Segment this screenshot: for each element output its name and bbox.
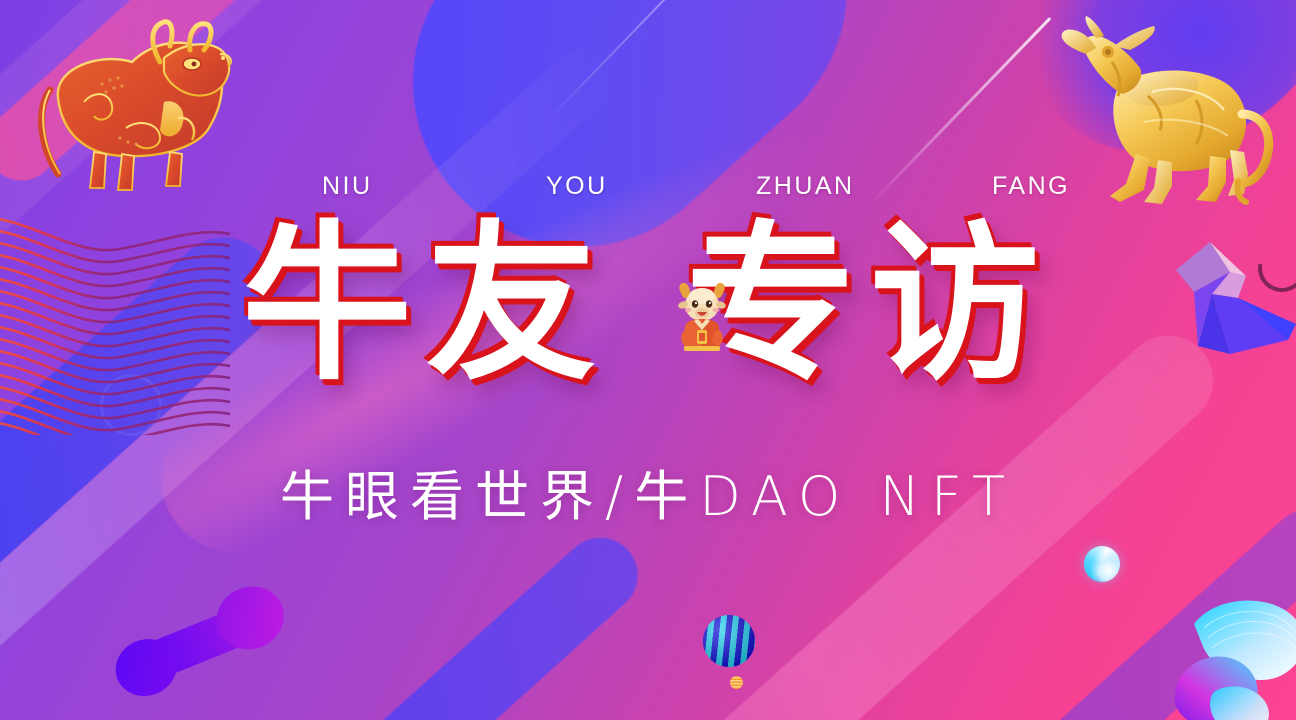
pinyin-zhuan: ZHUAN — [756, 172, 855, 201]
swirl-orb-icon — [1084, 546, 1120, 582]
pinyin-row: NIU YOU ZHUAN FANG — [0, 172, 1296, 206]
poster-canvas: NIU YOU ZHUAN FANG 牛友 专访 — [0, 0, 1296, 720]
pinyin-niu: NIU — [322, 172, 373, 201]
pinyin-fang: FANG — [992, 172, 1070, 201]
fluid-swirl-icon — [1158, 588, 1296, 720]
orange-dot-icon — [730, 676, 743, 689]
striped-sphere-icon — [703, 615, 755, 667]
ox-mascot-icon — [672, 278, 732, 354]
wave-lines-icon — [0, 215, 230, 435]
pinyin-you: YOU — [546, 172, 608, 201]
purple-blob-shape — [103, 576, 292, 699]
subtitle: 牛眼看世界/牛DAO NFT — [0, 452, 1296, 531]
